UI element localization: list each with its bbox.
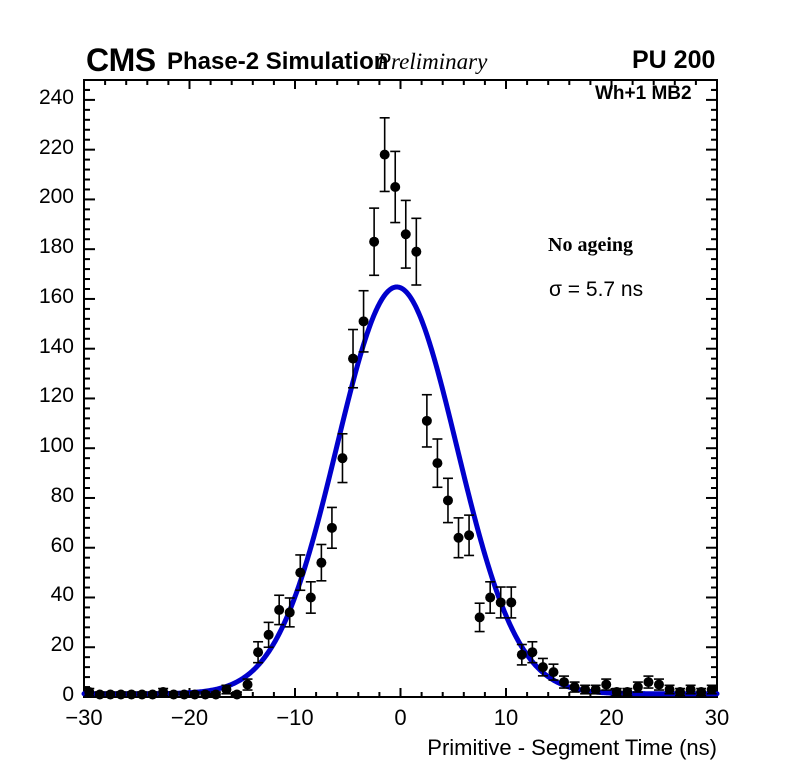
data-point-marker — [612, 687, 622, 697]
error-bars — [84, 118, 716, 697]
data-point-marker — [411, 247, 421, 257]
data-point-marker — [654, 680, 664, 690]
data-point-marker — [95, 690, 105, 700]
data-point-marker — [200, 690, 210, 700]
data-point-marker — [264, 630, 274, 640]
data-point-marker — [380, 150, 390, 160]
data-point-marker — [517, 650, 527, 660]
data-point-marker — [105, 690, 115, 700]
data-point-marker — [454, 533, 464, 543]
data-point-marker — [179, 690, 189, 700]
data-point-marker — [232, 690, 242, 700]
data-points — [84, 150, 716, 700]
data-point-marker — [464, 530, 474, 540]
data-point-marker — [686, 685, 696, 695]
data-point-marker — [221, 685, 231, 695]
data-point-marker — [527, 647, 537, 657]
data-point-marker — [643, 677, 653, 687]
data-point-marker — [190, 690, 200, 700]
data-point-marker — [243, 680, 253, 690]
axis-frame — [84, 80, 717, 697]
data-point-marker — [359, 316, 369, 326]
data-point-marker — [327, 523, 337, 533]
data-point-marker — [432, 458, 442, 468]
data-point-marker — [116, 690, 126, 700]
data-point-marker — [274, 605, 284, 615]
data-point-marker — [601, 680, 611, 690]
data-point-marker — [506, 597, 516, 607]
data-point-marker — [126, 690, 136, 700]
data-point-marker — [390, 182, 400, 192]
data-point-marker — [570, 682, 580, 692]
data-point-marker — [337, 453, 347, 463]
data-point-marker — [306, 592, 316, 602]
data-point-marker — [316, 558, 326, 568]
data-point-marker — [707, 685, 717, 695]
data-point-marker — [348, 354, 358, 364]
gaussian-fit-line — [84, 287, 717, 694]
data-point-marker — [538, 662, 548, 672]
data-point-marker — [485, 592, 495, 602]
data-point-marker — [496, 597, 506, 607]
data-point-marker — [475, 612, 485, 622]
axis-ticks — [84, 80, 717, 697]
data-point-marker — [295, 568, 305, 578]
data-point-marker — [211, 690, 221, 700]
data-point-marker — [253, 647, 263, 657]
data-point-marker — [580, 685, 590, 695]
data-point-marker — [548, 667, 558, 677]
data-point-marker — [285, 607, 295, 617]
data-point-marker — [622, 687, 632, 697]
frame-rect — [84, 80, 717, 697]
data-point-marker — [591, 685, 601, 695]
data-point-marker — [148, 690, 158, 700]
data-point-marker — [696, 687, 706, 697]
data-point-marker — [84, 687, 94, 697]
data-point-marker — [422, 416, 432, 426]
data-point-marker — [169, 690, 179, 700]
data-point-marker — [158, 687, 168, 697]
data-point-marker — [675, 687, 685, 697]
data-point-marker — [137, 690, 147, 700]
data-point-marker — [665, 685, 675, 695]
data-point-marker — [633, 682, 643, 692]
plot-canvas: CMS Phase-2 Simulation Preliminary PU 20… — [0, 0, 796, 772]
data-point-marker — [401, 229, 411, 239]
plot-graphics — [0, 0, 796, 772]
fit-curve — [84, 287, 717, 694]
data-point-marker — [369, 237, 379, 247]
data-point-marker — [559, 677, 569, 687]
data-point-marker — [443, 495, 453, 505]
